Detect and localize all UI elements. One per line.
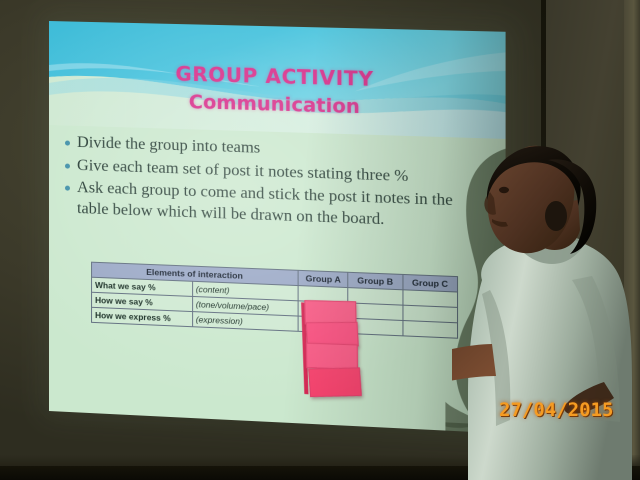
- cell-detail: (expression): [192, 312, 298, 332]
- camera-date-stamp: 27/04/2015: [499, 399, 613, 421]
- slide-bullet-list: Divide the group into teams Give each te…: [65, 131, 489, 236]
- projected-slide: GROUP ACTIVITY Communication Divide the …: [49, 21, 506, 434]
- bullet-dot-icon: [65, 163, 70, 168]
- bullet-dot-icon: [65, 186, 70, 191]
- presenter-person: [452, 130, 640, 480]
- presenter-ear: [545, 201, 567, 231]
- interaction-table: Elements of interaction Group A Group B …: [91, 262, 458, 339]
- postit-note-stack: [304, 300, 361, 397]
- interaction-table-wrap: Elements of interaction Group A Group B …: [91, 262, 458, 339]
- postit-note: [308, 367, 362, 397]
- postit-note: [306, 343, 358, 370]
- bullet-dot-icon: [65, 141, 70, 146]
- presenter-eye: [499, 187, 509, 193]
- cell-group-c: [403, 320, 458, 338]
- cell-element: How we express %: [92, 307, 193, 326]
- photograph-scene: GROUP ACTIVITY Communication Divide the …: [0, 0, 640, 480]
